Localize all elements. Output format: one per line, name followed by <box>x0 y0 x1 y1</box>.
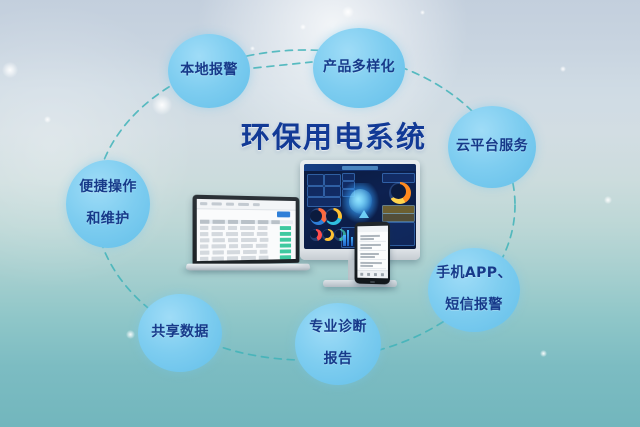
node-convenient-operation-maintenance[interactable]: 便捷操作 和维护 <box>66 160 150 248</box>
node-label-line1: 手机APP、 <box>432 266 516 282</box>
laptop-lid <box>193 195 300 266</box>
smartphone <box>355 222 390 285</box>
laptop-base <box>185 264 311 271</box>
china-map-visual <box>342 183 379 224</box>
dashboard-header <box>304 164 416 171</box>
list-item <box>359 252 386 260</box>
phone-home-button[interactable] <box>370 280 375 282</box>
node-label-line2: 报告 <box>305 352 371 368</box>
page-title: 环保用电系统 <box>222 114 446 156</box>
node-mobile-app-sms-alarm[interactable]: 手机APP、 短信报警 <box>428 248 520 332</box>
node-label-line2: 短信报警 <box>432 298 516 314</box>
map-marker <box>359 210 369 218</box>
list-item <box>359 261 386 269</box>
node-label-line1: 专业诊断 <box>305 320 371 336</box>
list-item <box>359 243 386 251</box>
laptop-primary-button <box>277 211 290 217</box>
node-cloud-platform-service[interactable]: 云平台服务 <box>448 106 536 188</box>
node-professional-diagnosis-report[interactable]: 专业诊断 报告 <box>295 303 381 385</box>
node-label: 产品多样化 <box>319 60 399 76</box>
list-item <box>359 234 386 242</box>
laptop-screen <box>197 199 296 261</box>
node-label: 便捷操作 和维护 <box>71 180 145 227</box>
table-row <box>200 226 293 230</box>
laptop-toolbar <box>197 199 296 211</box>
table-row <box>200 249 293 254</box>
table-row <box>200 255 293 260</box>
poster-canvas: 本地报警 产品多样化 云平台服务 手机APP、 短信报警 专业诊断 报告 共享数… <box>0 0 640 427</box>
node-label: 本地报警 <box>176 63 242 79</box>
node-label-line1: 便捷操作 <box>75 180 141 196</box>
node-label: 云平台服务 <box>452 139 532 155</box>
node-label-line2: 和维护 <box>75 212 141 228</box>
laptop <box>186 196 310 282</box>
node-product-diversification[interactable]: 产品多样化 <box>313 28 405 108</box>
node-label: 专业诊断 报告 <box>301 320 375 367</box>
table-row <box>200 244 293 249</box>
phone-app-header <box>357 226 388 233</box>
table-header-row <box>200 220 293 224</box>
table-row <box>200 232 293 236</box>
device-group <box>186 160 436 310</box>
table-row <box>200 238 293 242</box>
phone-screen <box>357 226 388 279</box>
node-local-alarm[interactable]: 本地报警 <box>168 34 250 108</box>
node-label: 手机APP、 短信报警 <box>428 266 520 313</box>
phone-tab-bar <box>357 270 388 279</box>
node-label: 共享数据 <box>147 325 213 341</box>
